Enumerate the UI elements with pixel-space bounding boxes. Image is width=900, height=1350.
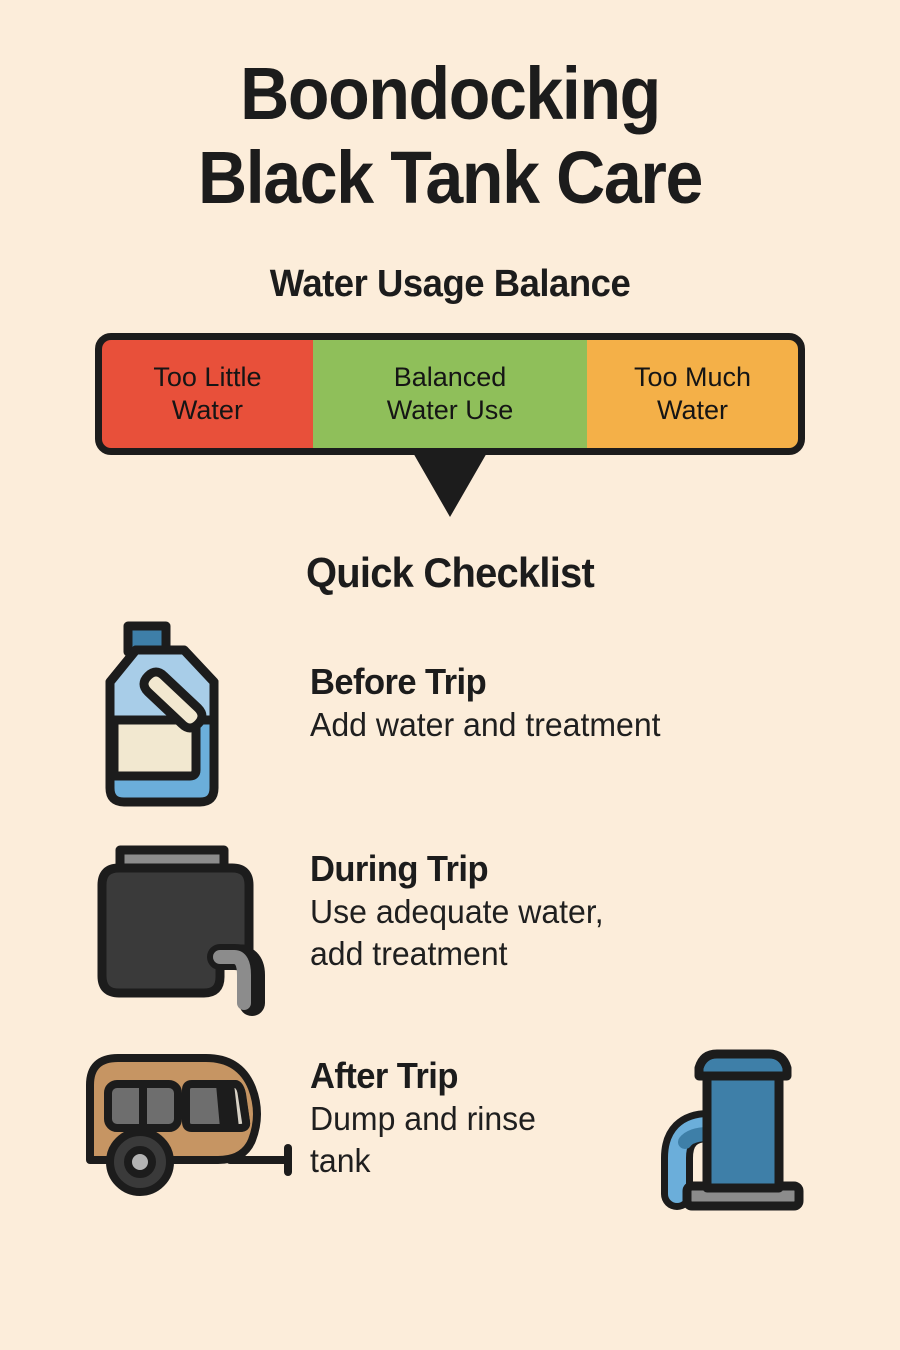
segment-label: Balanced Water Use <box>387 361 514 427</box>
checklist-item-before-trip: Before Trip Add water and treatment <box>0 620 900 815</box>
water-usage-balance-bar: Too Little Water Balanced Water Use Too … <box>95 333 805 455</box>
balance-segment-too-much-water[interactable]: Too Much Water <box>587 340 798 448</box>
black-tank-icon <box>84 845 284 1025</box>
checklist-title: During Trip <box>310 847 809 891</box>
checklist-item-after-trip: After Trip Dump and rinse tank <box>0 1040 900 1220</box>
balance-segment-balanced-water-use[interactable]: Balanced Water Use <box>313 340 587 448</box>
checklist-item-during-trip: During Trip Use adequate water, add trea… <box>0 845 900 1030</box>
checklist-description: Add water and treatment <box>310 704 814 746</box>
checklist-text-before-trip: Before Trip Add water and treatment <box>310 660 830 746</box>
title-line-2: Black Tank Care <box>36 136 864 220</box>
balance-segment-too-little-water[interactable]: Too Little Water <box>102 340 313 448</box>
balance-pointer-triangle-icon <box>412 451 488 517</box>
segment-label: Too Little Water <box>153 361 261 427</box>
page-title: Boondocking Black Tank Care <box>0 52 900 220</box>
checklist-description: Use adequate water, add treatment <box>310 891 814 975</box>
travel-trailer-icon <box>80 1040 320 1200</box>
checklist-title: Before Trip <box>310 660 809 704</box>
quick-checklist-heading: Quick Checklist <box>23 548 878 598</box>
segment-label: Too Much Water <box>634 361 751 427</box>
water-jug-icon <box>88 620 248 810</box>
title-line-1: Boondocking <box>36 52 864 136</box>
infographic-poster: Boondocking Black Tank Care Water Usage … <box>0 0 900 1350</box>
balance-bar-track: Too Little Water Balanced Water Use Too … <box>95 333 805 455</box>
checklist-text-during-trip: During Trip Use adequate water, add trea… <box>310 847 830 975</box>
water-usage-balance-heading: Water Usage Balance <box>18 262 882 306</box>
dump-station-icon <box>615 1046 815 1216</box>
